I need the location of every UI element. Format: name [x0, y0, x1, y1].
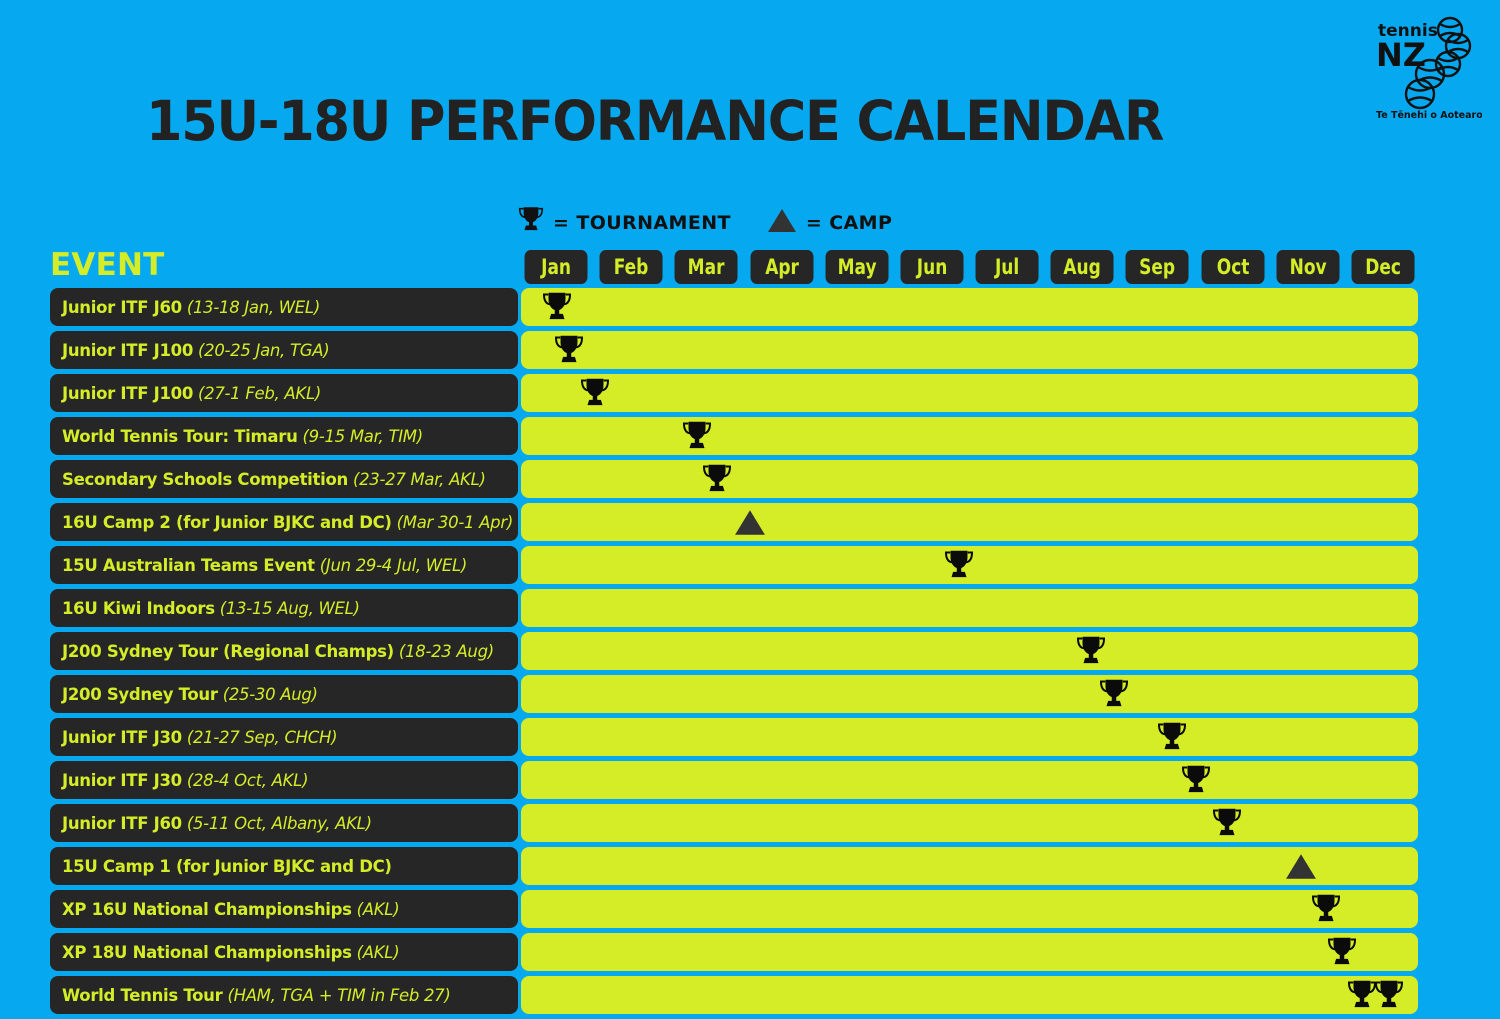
event-timeline-track: [521, 417, 1418, 455]
event-timeline-track: [521, 374, 1418, 412]
event-detail: (Jun 29-4 Jul, WEL): [320, 556, 467, 575]
table-row: Junior ITF J60(5-11 Oct, Albany, AKL): [0, 804, 1500, 842]
event-detail: (23-27 Mar, AKL): [353, 470, 486, 489]
event-detail: (27-1 Feb, AKL): [198, 384, 321, 403]
calendar-header-row: EVENT JanFebMarAprMayJunJulAugSepOctNovD…: [0, 248, 1500, 288]
event-label-pill[interactable]: Junior ITF J60(5-11 Oct, Albany, AKL): [50, 804, 518, 842]
month-pill-jun[interactable]: Jun: [900, 250, 963, 284]
event-label-pill[interactable]: Junior ITF J60(13-18 Jan, WEL): [50, 288, 518, 326]
event-timeline-track: [521, 632, 1418, 670]
event-detail: (Mar 30-1 Apr): [397, 513, 513, 532]
trophy-icon[interactable]: [540, 290, 574, 324]
event-name: Junior ITF J60: [62, 814, 182, 833]
month-pill-aug[interactable]: Aug: [1051, 250, 1114, 284]
event-timeline-track: [521, 847, 1418, 885]
event-name: Junior ITF J100: [62, 384, 193, 403]
month-pill-apr[interactable]: Apr: [750, 250, 813, 284]
event-detail: (HAM, TGA + TIM in Feb 27): [227, 986, 450, 1005]
event-timeline-track: [521, 933, 1418, 971]
logo-nz-text: NZ: [1376, 36, 1426, 74]
event-detail: (25-30 Aug): [223, 685, 318, 704]
event-label-pill[interactable]: XP 18U National Championships(AKL): [50, 933, 518, 971]
event-detail: (13-15 Aug, WEL): [220, 599, 360, 618]
event-label-pill[interactable]: XP 16U National Championships(AKL): [50, 890, 518, 928]
event-name: J200 Sydney Tour (Regional Champs): [62, 642, 394, 661]
trophy-icon[interactable]: [1325, 935, 1359, 969]
page-title: 15U-18U PERFORMANCE CALENDAR: [146, 92, 1163, 150]
table-row: World Tennis Tour(HAM, TGA + TIM in Feb …: [0, 976, 1500, 1014]
table-row: XP 18U National Championships(AKL): [0, 933, 1500, 971]
tennis-nz-logo: tennis NZ Te Tēnehi o Aotearoa: [1372, 8, 1482, 126]
trophy-icon[interactable]: [1074, 634, 1108, 668]
event-name: 16U Camp 2 (for Junior BJKC and DC): [62, 513, 392, 532]
event-name: Secondary Schools Competition: [62, 470, 348, 489]
trophy-icon[interactable]: [700, 462, 734, 496]
month-pill-jan[interactable]: Jan: [525, 250, 588, 284]
event-detail: (5-11 Oct, Albany, AKL): [187, 814, 372, 833]
month-pill-jul[interactable]: Jul: [976, 250, 1039, 284]
event-label-pill[interactable]: World Tennis Tour(HAM, TGA + TIM in Feb …: [50, 976, 518, 1014]
event-detail: (13-18 Jan, WEL): [187, 298, 320, 317]
event-detail: (28-4 Oct, AKL): [187, 771, 308, 790]
event-name: XP 18U National Championships: [62, 943, 352, 962]
trophy-icon[interactable]: [1309, 892, 1343, 926]
trophy-icon[interactable]: [1179, 763, 1213, 797]
trophy-icon[interactable]: [1155, 720, 1189, 754]
table-row: 16U Kiwi Indoors(13-15 Aug, WEL): [0, 589, 1500, 627]
month-pill-oct[interactable]: Oct: [1201, 250, 1264, 284]
event-detail: (18-23 Aug): [399, 642, 494, 661]
table-row: Junior ITF J30(28-4 Oct, AKL): [0, 761, 1500, 799]
event-timeline-track: [521, 976, 1418, 1014]
trophy-icon[interactable]: [578, 376, 612, 410]
trophy-icon[interactable]: [680, 419, 714, 453]
trophy-icon[interactable]: [942, 548, 976, 582]
event-label-pill[interactable]: 16U Camp 2 (for Junior BJKC and DC)(Mar …: [50, 503, 518, 541]
event-label-pill[interactable]: Junior ITF J30(21-27 Sep, CHCH): [50, 718, 518, 756]
event-name: Junior ITF J100: [62, 341, 193, 360]
event-timeline-track: [521, 546, 1418, 584]
event-detail: (20-25 Jan, TGA): [198, 341, 329, 360]
performance-calendar: EVENT JanFebMarAprMayJunJulAugSepOctNovD…: [0, 248, 1500, 1019]
legend-item-camp: = CAMP: [767, 207, 892, 238]
legend: = TOURNAMENT = CAMP: [518, 205, 892, 240]
table-row: J200 Sydney Tour (Regional Champs)(18-23…: [0, 632, 1500, 670]
event-label-pill[interactable]: 15U Australian Teams Event(Jun 29-4 Jul,…: [50, 546, 518, 584]
event-label-pill[interactable]: Secondary Schools Competition(23-27 Mar,…: [50, 460, 518, 498]
event-name: World Tennis Tour: [62, 986, 222, 1005]
event-timeline-track: [521, 675, 1418, 713]
month-pill-may[interactable]: May: [825, 250, 888, 284]
table-row: 15U Camp 1 (for Junior BJKC and DC): [0, 847, 1500, 885]
legend-camp-label: = CAMP: [806, 212, 892, 234]
table-row: Secondary Schools Competition(23-27 Mar,…: [0, 460, 1500, 498]
month-pill-dec[interactable]: Dec: [1351, 250, 1414, 284]
logo-graphic: tennis NZ Te Tēnehi o Aotearoa: [1372, 8, 1482, 126]
trophy-icon[interactable]: [552, 333, 586, 367]
camp-triangle-icon[interactable]: [1284, 849, 1318, 883]
event-detail: (9-15 Mar, TIM): [303, 427, 423, 446]
event-label-pill[interactable]: Junior ITF J100(27-1 Feb, AKL): [50, 374, 518, 412]
event-name: J200 Sydney Tour: [62, 685, 218, 704]
trophy-icon: [518, 205, 544, 240]
camp-triangle-icon: [767, 207, 797, 238]
legend-tournament-label: = TOURNAMENT: [553, 212, 731, 234]
event-timeline-track: [521, 718, 1418, 756]
event-timeline-track: [521, 331, 1418, 369]
event-label-pill[interactable]: 15U Camp 1 (for Junior BJKC and DC): [50, 847, 518, 885]
table-row: 16U Camp 2 (for Junior BJKC and DC)(Mar …: [0, 503, 1500, 541]
month-pill-sep[interactable]: Sep: [1126, 250, 1189, 284]
event-name: Junior ITF J60: [62, 298, 182, 317]
event-label-pill[interactable]: World Tennis Tour: Timaru(9-15 Mar, TIM): [50, 417, 518, 455]
event-label-pill[interactable]: J200 Sydney Tour(25-30 Aug): [50, 675, 518, 713]
event-name: 15U Camp 1 (for Junior BJKC and DC): [62, 857, 392, 876]
event-timeline-track: [521, 503, 1418, 541]
event-detail: (21-27 Sep, CHCH): [187, 728, 337, 747]
event-label-pill[interactable]: 16U Kiwi Indoors(13-15 Aug, WEL): [50, 589, 518, 627]
table-row: World Tennis Tour: Timaru(9-15 Mar, TIM): [0, 417, 1500, 455]
event-name: Junior ITF J30: [62, 771, 182, 790]
event-name: XP 16U National Championships: [62, 900, 352, 919]
event-timeline-track: [521, 589, 1418, 627]
table-row: Junior ITF J60(13-18 Jan, WEL): [0, 288, 1500, 326]
month-pill-nov[interactable]: Nov: [1276, 250, 1339, 284]
event-name: Junior ITF J30: [62, 728, 182, 747]
month-pill-mar[interactable]: Mar: [675, 250, 738, 284]
event-label-pill[interactable]: J200 Sydney Tour (Regional Champs)(18-23…: [50, 632, 518, 670]
table-row: XP 16U National Championships(AKL): [0, 890, 1500, 928]
event-timeline-track: [521, 804, 1418, 842]
trophy-icon[interactable]: [1372, 978, 1406, 1012]
table-row: Junior ITF J100(20-25 Jan, TGA): [0, 331, 1500, 369]
calendar-rows: Junior ITF J60(13-18 Jan, WEL)Junior ITF…: [0, 288, 1500, 1014]
event-timeline-track: [521, 460, 1418, 498]
table-row: J200 Sydney Tour(25-30 Aug): [0, 675, 1500, 713]
event-name: World Tennis Tour: Timaru: [62, 427, 298, 446]
trophy-icon[interactable]: [1210, 806, 1244, 840]
event-label-pill[interactable]: Junior ITF J30(28-4 Oct, AKL): [50, 761, 518, 799]
event-detail: (AKL): [357, 943, 400, 962]
month-pill-feb[interactable]: Feb: [600, 250, 663, 284]
event-name: 16U Kiwi Indoors: [62, 599, 215, 618]
event-timeline-track: [521, 890, 1418, 928]
event-detail: (AKL): [357, 900, 400, 919]
event-label-pill[interactable]: Junior ITF J100(20-25 Jan, TGA): [50, 331, 518, 369]
event-column-header: EVENT: [50, 248, 164, 282]
table-row: Junior ITF J30(21-27 Sep, CHCH): [0, 718, 1500, 756]
event-timeline-track: [521, 288, 1418, 326]
trophy-icon[interactable]: [1097, 677, 1131, 711]
event-timeline-track: [521, 761, 1418, 799]
month-header-strip: JanFebMarAprMayJunJulAugSepOctNovDec: [521, 250, 1418, 284]
logo-tagline: Te Tēnehi o Aotearoa: [1376, 110, 1482, 121]
camp-triangle-icon[interactable]: [733, 505, 767, 539]
legend-item-tournament: = TOURNAMENT: [518, 205, 731, 240]
table-row: 15U Australian Teams Event(Jun 29-4 Jul,…: [0, 546, 1500, 584]
table-row: Junior ITF J100(27-1 Feb, AKL): [0, 374, 1500, 412]
event-name: 15U Australian Teams Event: [62, 556, 315, 575]
